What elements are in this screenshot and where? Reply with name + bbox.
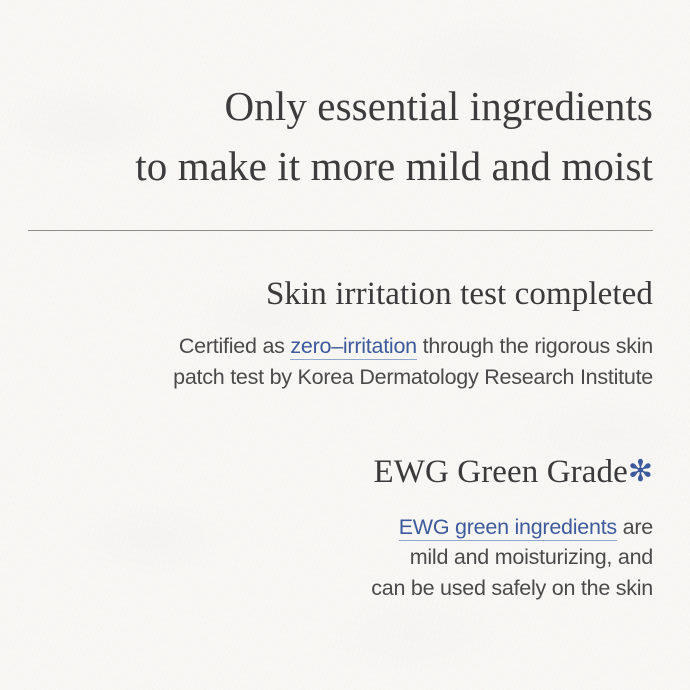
- ewg-heading-text: EWG Green Grade: [373, 454, 627, 490]
- ewg-body-line-2: mild and moisturizing, and: [0, 542, 653, 573]
- zero-irritation-highlight[interactable]: zero–irritation: [290, 334, 417, 360]
- skin-test-body-line-2: patch test by Korea Dermatology Research…: [0, 362, 653, 393]
- ewg-green-ingredients-highlight[interactable]: EWG green ingredients: [399, 515, 617, 541]
- headline-line-2: to make it more mild and moist: [0, 136, 653, 196]
- product-info-panel: Only essential ingredients to make it mo…: [0, 0, 690, 690]
- ewg-text-suffix: are: [617, 515, 653, 539]
- ewg-body-line-3: can be used safely on the skin: [0, 573, 653, 604]
- divider-container: [0, 197, 653, 231]
- asterisk-icon: ✻: [628, 455, 653, 488]
- headline-line-1: Only essential ingredients: [0, 76, 653, 136]
- skin-irritation-test-body: Certified as zero–irritation through the…: [0, 314, 653, 392]
- skin-irritation-test-heading: Skin irritation test completed: [0, 231, 653, 315]
- ewg-green-grade-heading: EWG Green Grade✻: [0, 392, 653, 493]
- skin-test-text-suffix: through the rigorous skin: [417, 334, 653, 358]
- page-headline: Only essential ingredients to make it mo…: [0, 0, 653, 197]
- skin-test-text-prefix: Certified as: [179, 334, 290, 358]
- skin-test-body-line-1: Certified as zero–irritation through the…: [0, 331, 653, 362]
- ewg-body-line-1: EWG green ingredients are: [0, 512, 653, 543]
- ewg-green-grade-body: EWG green ingredients are mild and moist…: [0, 493, 653, 604]
